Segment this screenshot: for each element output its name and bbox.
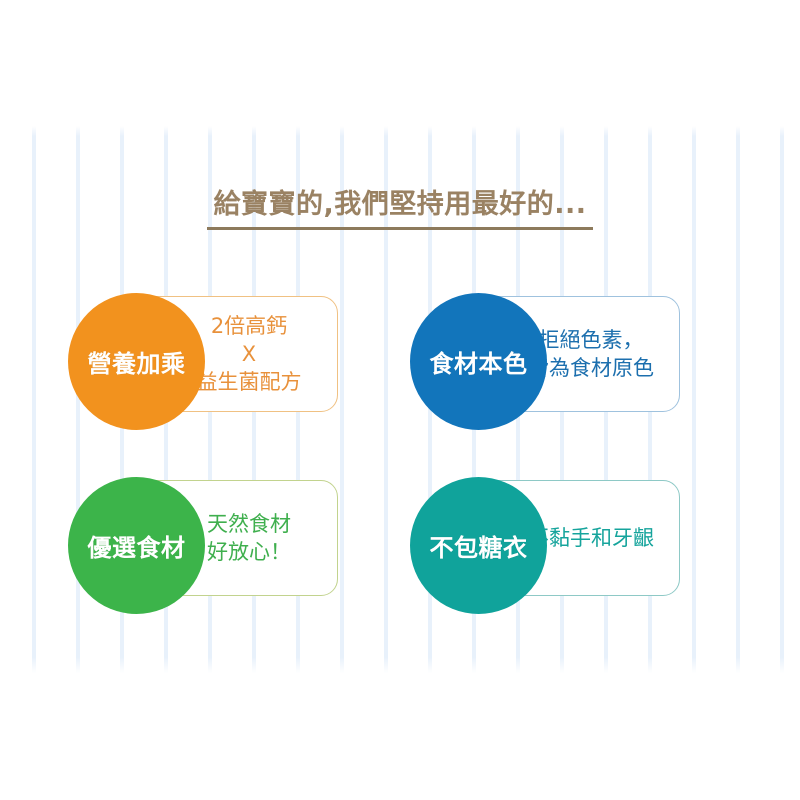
- feature-card-badge-circle: 營養加乘: [68, 293, 205, 430]
- stripe-fade-bottom: [0, 657, 800, 673]
- stripe-fade-top: [0, 126, 800, 136]
- feature-card-line: 拒絕色素，: [539, 327, 644, 355]
- feature-card-badge-circle: 不包糖衣: [410, 477, 547, 614]
- feature-card-line: 天然食材: [207, 511, 291, 539]
- page-title-block: 給寶寶的,我們堅持用最好的...: [0, 190, 800, 230]
- feature-card-badge-circle: 優選食材: [68, 477, 205, 614]
- promo-poster: 給寶寶的,我們堅持用最好的... 2倍高鈣 X 益生菌配方 營養加乘 拒絕色素，…: [0, 0, 800, 800]
- feature-card-no-sugarcoat: 不黏手和牙齦 不包糖衣: [410, 480, 682, 598]
- feature-card-nutrition: 2倍高鈣 X 益生菌配方 營養加乘: [68, 296, 340, 414]
- feature-card-natural-color: 拒絕色素， 皆為食材原色 食材本色: [410, 296, 682, 414]
- title-underline: [207, 227, 593, 230]
- feature-card-line: 2倍高鈣: [211, 313, 287, 341]
- feature-card-line: 益生菌配方: [197, 369, 302, 397]
- page-title: 給寶寶的,我們堅持用最好的...: [0, 190, 800, 220]
- feature-card-badge-label: 優選食材: [88, 528, 186, 563]
- feature-card-badge-circle: 食材本色: [410, 293, 547, 430]
- feature-card-line: X: [242, 341, 256, 369]
- feature-card-line: 好放心！: [207, 539, 291, 567]
- feature-card-badge-label: 不包糖衣: [430, 528, 528, 563]
- feature-card-ingredients: 天然食材 好放心！ 優選食材: [68, 480, 340, 598]
- feature-card-badge-label: 營養加乘: [88, 344, 186, 379]
- feature-card-badge-label: 食材本色: [430, 344, 528, 379]
